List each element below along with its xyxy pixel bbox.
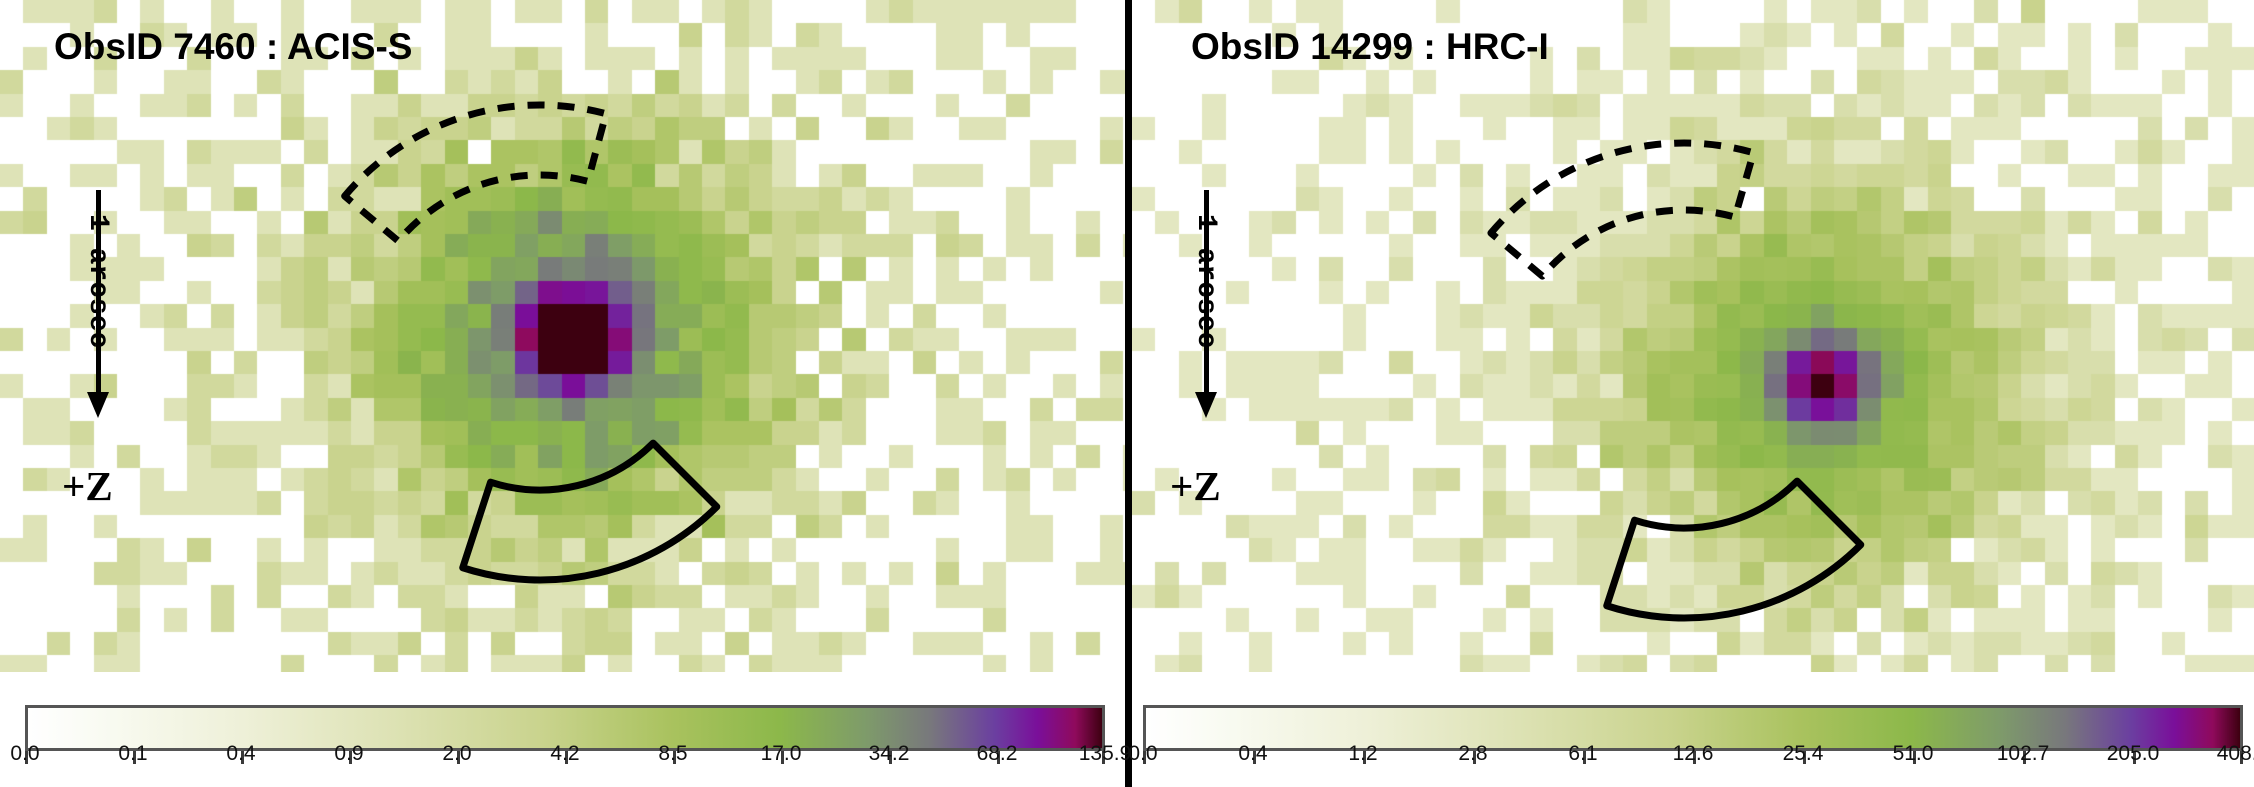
colorbar-tick-label: 0.4 [226,742,255,766]
figure-root: ObsID 7460 : ACIS-S 1 arcsec +Z 0.00.10.… [0,0,2254,787]
colorbar-tick-label: 2.0 [442,742,471,766]
colorbar-tick-label: 205.0 [2107,742,2160,766]
z-axis-label-right: +Z [1170,462,1221,510]
panel-left: ObsID 7460 : ACIS-S 1 arcsec +Z 0.00.10.… [0,0,1125,787]
colorbar-tick-label: 8.5 [658,742,687,766]
panel-title-right: ObsID 14299 : HRC-I [1191,26,1549,68]
colorbar-tick-label: 6.1 [1568,742,1597,766]
xray-image-left [0,0,1125,672]
panel-divider [1125,0,1132,787]
scale-bar-right: 1 arcsec [1204,190,1209,398]
scale-bar-arrowhead-icon [87,392,109,418]
scale-bar-label-left: 1 arcsec [82,214,113,348]
xray-image-right [1132,0,2254,672]
colorbar-tick-label: 0.9 [334,742,363,766]
colorbar-tick-label: 0.1 [118,742,147,766]
colorbar-tick-label: 34.2 [869,742,910,766]
panel-title-left: ObsID 7460 : ACIS-S [54,26,412,68]
scale-bar-left: 1 arcsec [96,190,101,398]
colorbar-tick-label: 102.7 [1997,742,2050,766]
colorbar-tick-label: 135.9 [1079,742,1132,766]
colorbar-tick-label: 0.0 [1128,742,1157,766]
colorbar-tick-label: 408.6 [2217,742,2254,766]
panel-right: ObsID 14299 : HRC-I 1 arcsec +Z 0.00.41.… [1132,0,2254,787]
z-axis-label-left: +Z [62,462,113,510]
colorbar-tick-label: 4.2 [550,742,579,766]
colorbar-tick-label: 25.4 [1783,742,1824,766]
colorbar-tick-label: 0.4 [1238,742,1267,766]
colorbar-tick-label: 2.8 [1458,742,1487,766]
colorbar-tick-label: 68.2 [977,742,1018,766]
colorbar-tick-label: 51.0 [1893,742,1934,766]
scale-bar-arrowhead-icon [1195,392,1217,418]
scale-bar-label-right: 1 arcsec [1190,214,1221,348]
colorbar-tick-label: 12.6 [1673,742,1714,766]
colorbar-tick-label: 17.0 [761,742,802,766]
colorbar-tick-label: 0.0 [10,742,39,766]
colorbar-tick-label: 1.2 [1348,742,1377,766]
